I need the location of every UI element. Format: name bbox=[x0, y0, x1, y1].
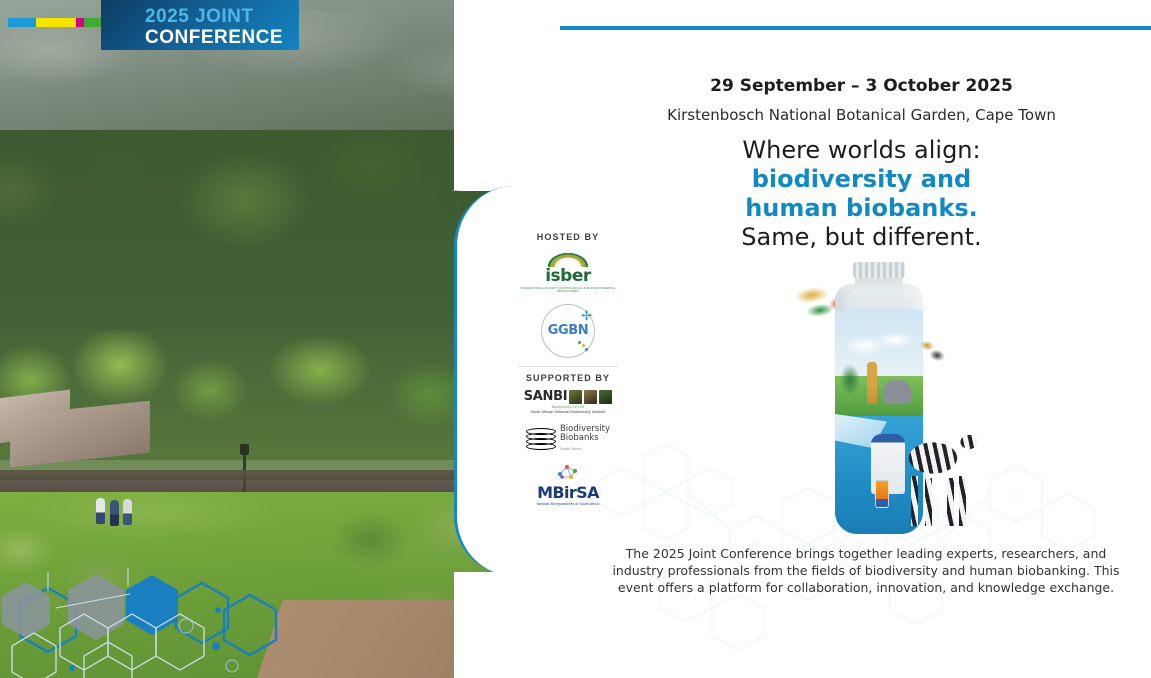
elephant-icon bbox=[883, 380, 911, 404]
giraffe-icon bbox=[867, 362, 877, 404]
headline-line-1: Where worlds align: bbox=[572, 136, 1151, 165]
sanbi-wordmark: SANBI bbox=[524, 390, 568, 403]
color-accent-bar bbox=[8, 18, 110, 27]
photo-visitor bbox=[110, 500, 119, 526]
headline-line-2: Same, but different. bbox=[572, 223, 1151, 252]
content-column: 29 September – 3 October 2025 Kirstenbos… bbox=[572, 0, 1151, 678]
tab-conference-label: CONFERENCE bbox=[145, 27, 299, 48]
color-swatch-yellow bbox=[36, 18, 76, 27]
headline-accent-1: biodiversity and bbox=[572, 165, 1151, 194]
bottle-cap bbox=[853, 262, 905, 278]
panel-carve-bottom bbox=[454, 572, 572, 678]
hexagon-cluster-graphic bbox=[0, 568, 300, 678]
conference-announcement-page: 2025 JOINT CONFERENCE HOSTED BY isber IN… bbox=[0, 0, 1151, 678]
sample-vial-icon bbox=[875, 480, 889, 508]
panel-carve-top bbox=[454, 0, 572, 190]
stacked-layers-icon bbox=[526, 428, 556, 450]
color-swatch-magenta bbox=[76, 18, 84, 27]
event-venue: Kirstenbosch National Botanical Garden, … bbox=[572, 106, 1151, 124]
tree-icon bbox=[837, 358, 863, 408]
event-description: The 2025 Joint Conference brings togethe… bbox=[602, 545, 1130, 596]
event-dates: 29 September – 3 October 2025 bbox=[572, 76, 1151, 96]
venue-photo bbox=[0, 0, 572, 678]
photo-visitor bbox=[96, 498, 105, 524]
conference-title-tab: 2025 JOINT CONFERENCE bbox=[101, 0, 299, 50]
color-swatch-blue bbox=[8, 18, 36, 27]
zebra-icon bbox=[895, 428, 981, 528]
biodiversity-bottle-composite bbox=[787, 262, 987, 537]
event-headline: Where worlds align: biodiversity and hum… bbox=[572, 136, 1151, 252]
headline-accent-2: human biobanks. bbox=[572, 194, 1151, 223]
tab-year-label: 2025 JOINT bbox=[145, 6, 299, 27]
photo-visitor bbox=[123, 499, 132, 525]
